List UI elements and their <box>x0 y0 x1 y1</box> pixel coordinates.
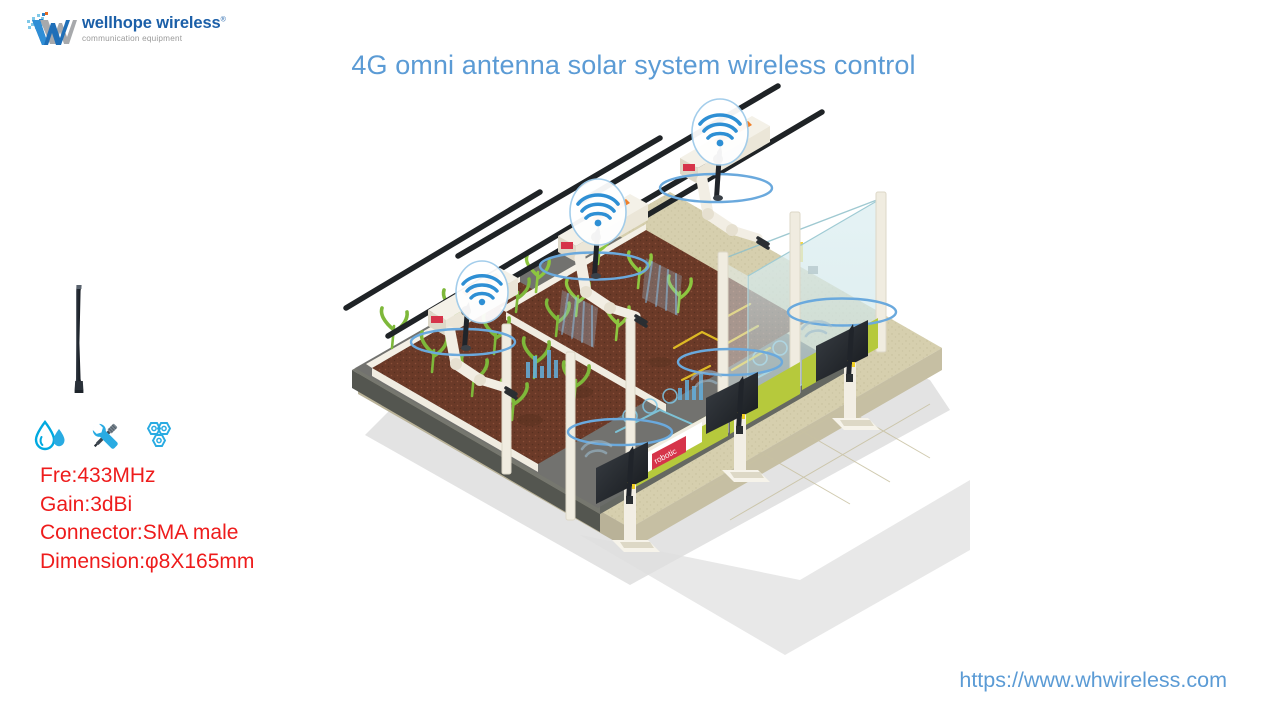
wifi-badge-2 <box>570 179 626 245</box>
registered-trademark-icon: ® <box>221 17 226 24</box>
logo-wordmark: wellhope wireless® <box>82 15 226 32</box>
logo-tagline: communication equipment <box>82 35 226 43</box>
waterproof-droplet-icon <box>34 420 68 457</box>
brand-logo: wellhope wireless® communication equipme… <box>26 8 226 50</box>
omni-antenna-product-photo <box>56 283 98 395</box>
logo-wordmark-text: wellhope wireless <box>82 14 221 32</box>
wellhope-w-logo-icon <box>26 11 78 47</box>
tools-screwdriver-wrench-icon <box>87 420 123 457</box>
wifi-badge-1 <box>456 261 508 323</box>
smart-greenhouse-isometric-illustration: robotic <box>330 80 970 660</box>
page-title: 4G omni antenna solar system wireless co… <box>0 50 1267 81</box>
logo-text-group: wellhope wireless® communication equipme… <box>82 15 226 43</box>
hexagon-material-icon <box>142 420 176 457</box>
website-url[interactable]: https://www.whwireless.com <box>959 668 1227 693</box>
wifi-badge-3 <box>692 99 748 165</box>
feature-icons-row <box>34 420 176 457</box>
